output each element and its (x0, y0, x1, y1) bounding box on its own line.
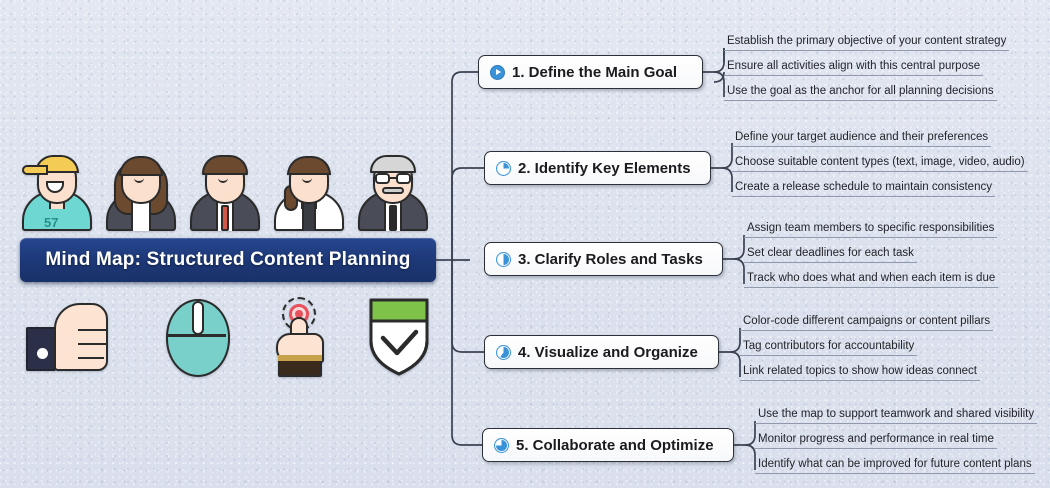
mindmap-canvas: 57 (0, 0, 1050, 488)
branch-node-1[interactable]: 1. Define the Main Goal (478, 55, 703, 89)
list-item[interactable]: Set clear deadlines for each task (744, 242, 998, 267)
sub-label: Track who does what and when each item i… (744, 272, 998, 288)
sub-label: Identify what can be improved for future… (755, 458, 1035, 474)
pie-progress-icon (496, 161, 511, 176)
list-item[interactable]: Ensure all activities align with this ce… (724, 55, 1009, 80)
branch-node-5[interactable]: 5. Collaborate and Optimize (482, 428, 734, 462)
branch-label-3: 3. Clarify Roles and Tasks (518, 251, 703, 268)
list-item[interactable]: Use the goal as the anchor for all plann… (724, 80, 1009, 105)
play-circle-icon (490, 65, 505, 80)
list-item[interactable]: Define your target audience and their pr… (732, 126, 1028, 151)
sub-label: Link related topics to show how ideas co… (740, 365, 980, 381)
thumbs-up-icon (26, 303, 112, 373)
avatar-person-elder-glasses (356, 145, 430, 231)
central-node-title: Mind Map: Structured Content Planning (45, 249, 410, 271)
people-illustration: 57 (20, 145, 430, 235)
sub-label: Choose suitable content types (text, ima… (732, 156, 1028, 172)
sub-label: Set clear deadlines for each task (744, 247, 917, 263)
central-node[interactable]: Mind Map: Structured Content Planning (20, 238, 436, 282)
sub-list-4: Color-code different campaigns or conten… (740, 310, 993, 385)
list-item[interactable]: Link related topics to show how ideas co… (740, 360, 993, 385)
branch-label-4: 4. Visualize and Organize (518, 344, 698, 361)
icon-illustration-row (20, 295, 430, 385)
sub-label: Define your target audience and their pr… (732, 131, 991, 147)
branch-label-1: 1. Define the Main Goal (512, 64, 677, 81)
branch-node-3[interactable]: 3. Clarify Roles and Tasks (484, 242, 723, 276)
sub-list-1: Establish the primary objective of your … (724, 30, 1009, 105)
list-item[interactable]: Use the map to support teamwork and shar… (755, 403, 1037, 428)
pie-progress-icon (496, 345, 511, 360)
list-item[interactable]: Assign team members to specific responsi… (744, 217, 998, 242)
branch-label-5: 5. Collaborate and Optimize (516, 437, 714, 454)
avatar-person-ponytail (272, 145, 346, 231)
sub-label: Establish the primary objective of your … (724, 35, 1009, 51)
sub-list-2: Define your target audience and their pr… (732, 126, 1028, 201)
pie-progress-icon (494, 438, 509, 453)
list-item[interactable]: Create a release schedule to maintain co… (732, 176, 1028, 201)
sub-label: Create a release schedule to maintain co… (732, 181, 995, 197)
sub-label: Ensure all activities align with this ce… (724, 60, 983, 76)
branch-label-2: 2. Identify Key Elements (518, 160, 691, 177)
pie-progress-icon (496, 252, 511, 267)
list-item[interactable]: Establish the primary objective of your … (724, 30, 1009, 55)
branch-node-4[interactable]: 4. Visualize and Organize (484, 335, 719, 369)
sub-label: Tag contributors for accountability (740, 340, 917, 356)
sub-list-5: Use the map to support teamwork and shar… (755, 403, 1037, 478)
avatar-person-long-hair (104, 145, 178, 231)
list-item[interactable]: Monitor progress and performance in real… (755, 428, 1037, 453)
list-item[interactable]: Tag contributors for accountability (740, 335, 993, 360)
sub-label: Use the goal as the anchor for all plann… (724, 85, 997, 101)
branch-node-2[interactable]: 2. Identify Key Elements (484, 151, 711, 185)
sub-label: Assign team members to specific responsi… (744, 222, 997, 238)
sub-label: Use the map to support teamwork and shar… (755, 408, 1037, 424)
tap-gesture-icon (274, 297, 340, 377)
computer-mouse-icon (166, 299, 230, 377)
list-item[interactable]: Choose suitable content types (text, ima… (732, 151, 1028, 176)
sub-label: Color-code different campaigns or conten… (740, 315, 993, 331)
list-item[interactable]: Identify what can be improved for future… (755, 453, 1037, 478)
shield-check-icon (368, 297, 430, 377)
avatar-person-suit-tie (188, 145, 262, 231)
list-item[interactable]: Color-code different campaigns or conten… (740, 310, 993, 335)
sub-list-3: Assign team members to specific responsi… (744, 217, 998, 292)
avatar-person-cap-teen: 57 (20, 145, 94, 231)
sub-label: Monitor progress and performance in real… (755, 433, 997, 449)
list-item[interactable]: Track who does what and when each item i… (744, 267, 998, 292)
